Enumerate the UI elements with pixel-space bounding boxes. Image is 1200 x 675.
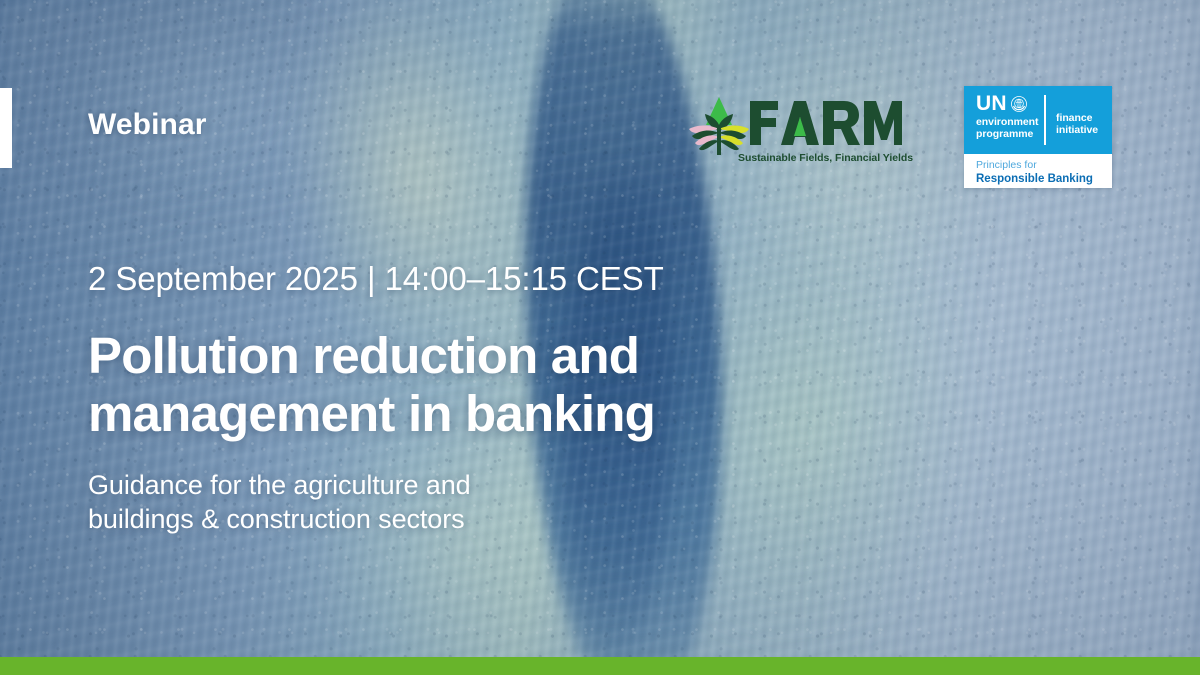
webinar-promo-poster: Webinar 2 September 2025 | 14:00–15:15 C… [0,0,1200,675]
farm-logo: Sustainable Fields, Financial Yields [686,92,902,172]
unep-logo-divider [1044,95,1046,145]
un-lockup: UN [976,94,1038,114]
left-edge-accent-tab [0,88,12,168]
finance-initiative-line-2: initiative [1056,124,1098,136]
farm-tagline: Sustainable Fields, Financial Yields [738,152,913,164]
farm-plant-icon [686,95,752,157]
un-wordmark: UN [976,94,1007,114]
kicker-label: Webinar [88,108,207,142]
page-title-line-2: management in banking [88,385,655,443]
event-datetime: 2 September 2025 | 14:00–15:15 CEST [88,260,664,298]
page-subtitle-line-1: Guidance for the agriculture and [88,468,471,502]
prb-logo-bottom: Principles for Responsible Banking [964,154,1112,188]
un-emblem-icon [1011,96,1027,112]
unep-subtitle-line-2: programme [976,128,1038,140]
farm-wordmark [748,98,902,148]
prb-line-2: Responsible Banking [976,172,1112,186]
page-subtitle: Guidance for the agriculture and buildin… [88,468,471,536]
page-title: Pollution reduction and management in ba… [88,327,655,443]
unep-subtitle: environment programme [976,116,1038,140]
unep-fi-prb-logo: UN environment programme [964,86,1112,188]
prb-line-1: Principles for [976,159,1112,172]
page-subtitle-line-2: buildings & construction sectors [88,502,471,536]
page-title-line-1: Pollution reduction and [88,327,655,385]
unep-fi-logo-top: UN environment programme [964,86,1112,154]
bottom-green-bar [0,657,1200,675]
unep-subtitle-line-1: environment [976,116,1038,128]
finance-initiative-line-1: finance [1056,112,1098,124]
unep-left-block: UN environment programme [976,94,1038,141]
finance-initiative-label: finance initiative [1056,112,1098,136]
